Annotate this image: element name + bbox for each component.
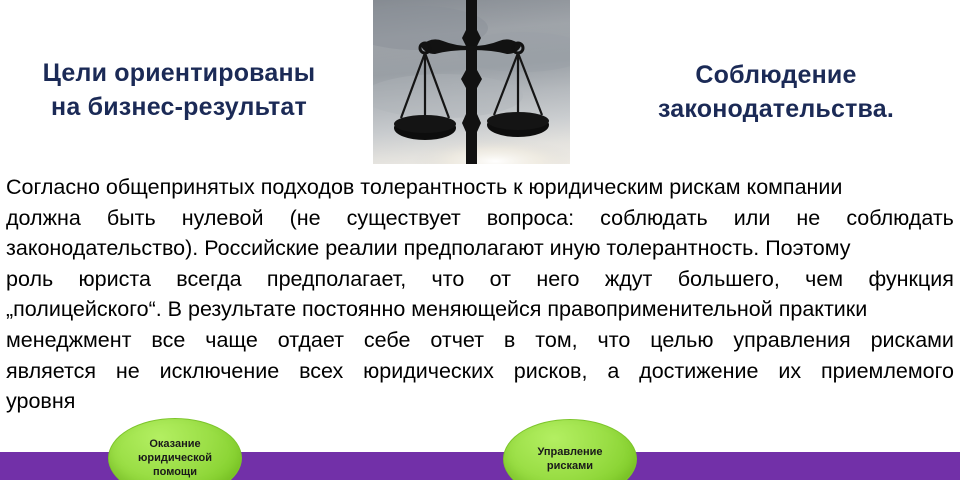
heading-left-line-1: Цели ориентированы	[6, 56, 352, 90]
scales-icon	[373, 0, 570, 164]
process-node-risk-management-label: Управление рисками	[529, 445, 610, 473]
heading-left-line-2: на бизнес-результат	[6, 90, 352, 124]
heading-right-line-1: Соблюдение	[600, 58, 952, 92]
body-paragraph: Согласно общепринятых подходов толерантн…	[6, 172, 954, 417]
body-line-3: законодательство). Российские реалии пре…	[6, 233, 954, 264]
body-line-2: должна быть нулевой (не существует вопро…	[6, 203, 954, 234]
heading-right: Соблюдение законодательства.	[600, 58, 952, 126]
justice-scales-image	[373, 0, 570, 164]
body-line-5: „полицейского“. В результате постоянно м…	[6, 294, 954, 325]
body-line-6: менеджмент все чаще отдает себе отчет в …	[6, 325, 954, 356]
process-node-risk-management[interactable]: Управление рисками	[503, 419, 637, 480]
slide-canvas: Цели ориентированы на бизнес-результат С…	[0, 0, 960, 480]
process-node-legal-aid[interactable]: Оказание юридической помощи	[108, 418, 242, 480]
heading-right-line-2: законодательства.	[600, 92, 952, 126]
body-line-8: уровня	[6, 386, 954, 417]
body-line-7: является не исключение всех юридических …	[6, 356, 954, 387]
process-node-legal-aid-label: Оказание юридической помощи	[130, 437, 220, 479]
heading-left: Цели ориентированы на бизнес-результат	[6, 56, 352, 124]
body-line-1: Согласно общепринятых подходов толерантн…	[6, 172, 954, 203]
body-line-4: роль юриста всегда предполагает, что от …	[6, 264, 954, 295]
